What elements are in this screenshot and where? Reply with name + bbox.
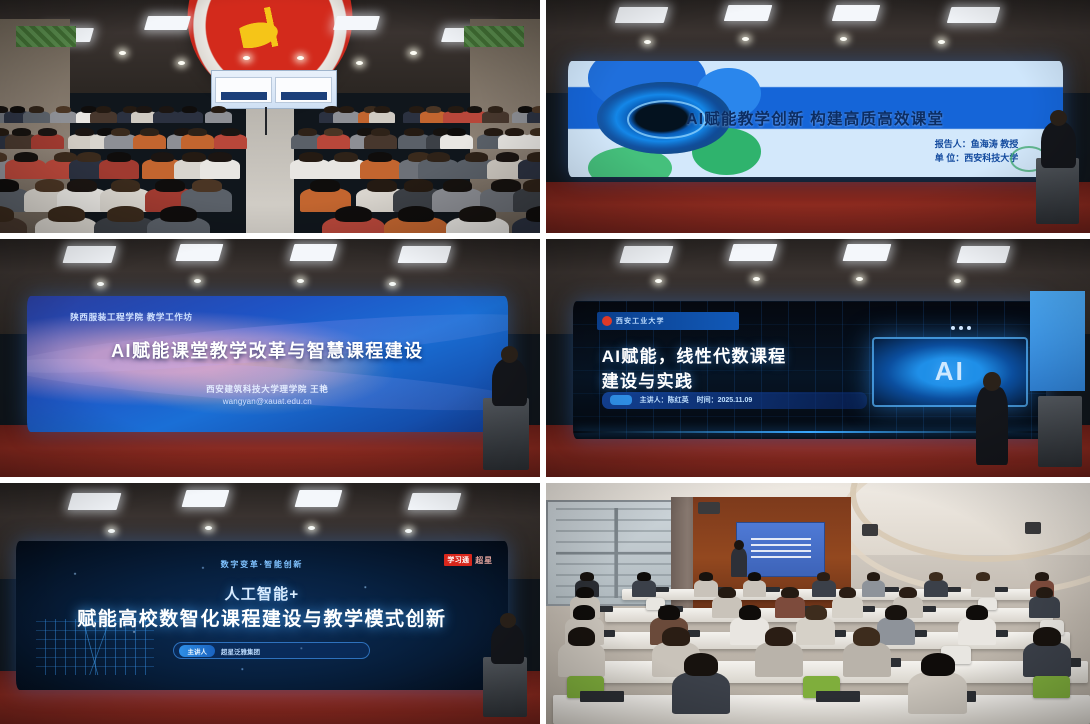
ceiling-light xyxy=(144,16,191,30)
audience-person xyxy=(23,111,50,124)
audience-head xyxy=(111,128,130,136)
audience-head xyxy=(221,128,240,136)
ceiling-speaker xyxy=(862,524,878,536)
attendee-person xyxy=(672,672,731,714)
audience-head xyxy=(107,206,144,222)
audience-head xyxy=(527,152,540,162)
chair xyxy=(1033,676,1070,699)
podium xyxy=(1038,396,1082,467)
ceiling-speaker xyxy=(1025,522,1041,534)
audience-head xyxy=(447,128,466,136)
audience-head xyxy=(505,128,524,136)
audience-person xyxy=(99,159,140,178)
attendee-head xyxy=(580,572,594,581)
audience-head xyxy=(77,152,101,162)
audience-person xyxy=(364,134,397,150)
audience-head xyxy=(491,179,520,192)
audience-head xyxy=(56,106,71,113)
attendee-person xyxy=(743,580,767,597)
audience-head xyxy=(404,179,433,192)
hall-room: 西安工业大学 AI赋能，线性代数课程 建设与实践 主讲人：陈红英 时间：2025… xyxy=(546,239,1090,477)
projection-screen xyxy=(736,522,825,577)
slide-title: AI赋能教学创新 构建高质高效课堂 xyxy=(568,107,1063,129)
hall-room: 数字变革·智能创新 人工智能+ 赋能高校数智化课程建设与教学模式创新 主讲人 超… xyxy=(0,483,540,724)
audience-head xyxy=(443,179,472,192)
audience-head xyxy=(374,106,389,113)
attendee-person xyxy=(908,672,967,714)
attendee-person xyxy=(558,642,606,676)
stage-floor xyxy=(546,182,1090,233)
audience-head xyxy=(467,106,482,113)
corner-logo-text: 超星 xyxy=(475,555,493,566)
affiliation-line: 单 位：西安科技大学 xyxy=(935,152,1019,166)
speaker-head xyxy=(500,613,516,627)
audience-head xyxy=(111,179,140,192)
audience-person xyxy=(360,159,401,178)
audience-person xyxy=(317,134,350,150)
laptop xyxy=(580,691,624,702)
attendee-head xyxy=(929,572,943,581)
attendee-head xyxy=(658,605,680,620)
audience-head xyxy=(335,206,372,222)
audience-head xyxy=(496,152,520,162)
audience-head xyxy=(29,106,44,113)
attendee-head xyxy=(576,587,594,599)
attendee-head xyxy=(573,605,595,620)
slide-email: wangyan@xauat.edu.cn xyxy=(27,397,508,406)
audience-head xyxy=(192,179,221,192)
audience-person xyxy=(527,111,540,124)
audience-person xyxy=(418,159,459,178)
audience-head xyxy=(14,152,38,162)
attendee-head xyxy=(1036,587,1054,599)
audience-person xyxy=(523,134,540,150)
attendee-head xyxy=(805,605,827,620)
slide-info-bar: 主讲人 超星泛雅集团 xyxy=(173,642,370,658)
slide-presenter-block: 报告人：鱼海涛 教授 单 位：西安科技大学 xyxy=(935,138,1019,166)
podium xyxy=(1036,158,1080,223)
audience-head xyxy=(310,179,339,192)
audience-person xyxy=(333,111,360,124)
podium xyxy=(483,398,529,469)
attendee-person xyxy=(1023,642,1071,676)
audience-head xyxy=(427,152,451,162)
info-pill-icon xyxy=(610,395,632,405)
panel-slide-ai-plus-curriculum[interactable]: 数字变革·智能创新 人工智能+ 赋能高校数智化课程建设与教学模式创新 主讲人 超… xyxy=(0,483,540,724)
attendee-person xyxy=(843,642,891,676)
audience-person xyxy=(518,159,540,178)
green-wall-panel xyxy=(16,26,75,47)
audience-head xyxy=(334,152,358,162)
audience-head xyxy=(371,128,390,136)
audience-head xyxy=(96,106,111,113)
audience-person xyxy=(90,111,117,124)
laptop xyxy=(816,691,860,702)
stage-floor xyxy=(0,425,540,477)
audience-head xyxy=(530,128,540,136)
audience-head xyxy=(155,179,184,192)
audience-head xyxy=(532,106,540,113)
panel-slide-linear-algebra[interactable]: 西安工业大学 AI赋能，线性代数课程 建设与实践 主讲人：陈红英 时间：2025… xyxy=(546,239,1090,477)
university-logo: 西安工业大学 xyxy=(597,312,739,330)
panel-auditorium-overview[interactable] xyxy=(0,0,540,233)
presenter-figure xyxy=(731,548,747,577)
attendee-head xyxy=(976,572,990,581)
speaker-head xyxy=(983,372,1000,391)
speaker-figure xyxy=(491,623,523,664)
audience-head xyxy=(35,179,64,192)
audience-crowd xyxy=(0,98,540,233)
ai-badge-text: AI xyxy=(935,356,965,387)
speaker-figure xyxy=(1041,121,1076,168)
attendee-head xyxy=(853,627,881,646)
led-slide-screen: 陕西服装工程学院 教学工作坊 AI赋能课堂教学改革与智慧课程建设 西安建筑科技大… xyxy=(27,296,508,432)
info-text: 超星泛雅集团 xyxy=(221,646,260,656)
audience-head xyxy=(459,206,496,222)
audience-head xyxy=(465,152,489,162)
attendee-head xyxy=(718,587,736,599)
hall-room: 陕西服装工程学院 教学工作坊 AI赋能课堂教学改革与智慧课程建设 西安建筑科技大… xyxy=(0,239,540,477)
attendee-head xyxy=(662,627,690,646)
audience-head xyxy=(426,106,441,113)
speaker-figure xyxy=(492,358,527,406)
audience-head xyxy=(488,106,503,113)
logo-mark-icon xyxy=(602,316,612,326)
attendee-head xyxy=(885,605,907,620)
attendee-head xyxy=(839,587,857,599)
decor-dots-icon xyxy=(951,326,971,330)
info-pill: 主讲人 xyxy=(179,645,215,657)
audience-head xyxy=(339,106,354,113)
audience-head xyxy=(38,128,57,136)
attendee-head xyxy=(966,605,988,620)
audience-head xyxy=(188,128,207,136)
attendee-person xyxy=(924,580,948,597)
audience-head xyxy=(448,106,463,113)
green-wall-panel xyxy=(464,26,523,47)
attendee-head xyxy=(921,653,955,676)
audience-person xyxy=(50,111,77,124)
audience-head xyxy=(48,206,85,222)
attendee-person xyxy=(862,580,886,597)
audience-person xyxy=(181,134,214,150)
audience-head xyxy=(367,179,396,192)
audience-head xyxy=(182,106,197,113)
logo-text: 西安工业大学 xyxy=(616,316,665,326)
audience-head xyxy=(151,152,175,162)
slide-info-bar: 主讲人：陈红英 时间：2025.11.09 xyxy=(602,392,867,409)
side-display-panel xyxy=(1030,291,1084,391)
presenter-line: 报告人：鱼海涛 教授 xyxy=(935,138,1019,152)
attendee-head xyxy=(1035,572,1049,581)
speaker-head xyxy=(1050,110,1067,126)
panel-slide-ai-teaching-innovation[interactable]: AI赋能教学创新 构建高质高效课堂 报告人：鱼海涛 教授 单 位：西安科技大学 xyxy=(546,0,1090,233)
attendee-person xyxy=(775,596,805,618)
slide-title: AI赋能课堂教学改革与智慧课程建设 xyxy=(27,337,508,363)
audience-head xyxy=(0,179,19,192)
attendee-person xyxy=(796,617,834,645)
ceiling-speaker xyxy=(698,502,720,514)
audience-head xyxy=(324,128,343,136)
audience-head xyxy=(208,152,232,162)
attendee-person xyxy=(730,617,768,645)
attendee-person xyxy=(812,580,836,597)
attendee-head xyxy=(568,627,596,646)
attendee-person xyxy=(958,617,996,645)
audience-head xyxy=(136,106,151,113)
panel-seminar-room[interactable] xyxy=(546,483,1090,724)
audience-person xyxy=(440,134,473,150)
audience-person xyxy=(5,159,46,178)
podium xyxy=(483,657,526,717)
audience-person xyxy=(31,134,64,150)
audience-person xyxy=(200,159,241,178)
audience-person xyxy=(214,134,247,150)
attendee-person xyxy=(1029,596,1059,618)
hall-room: AI赋能教学创新 构建高质高效课堂 报告人：鱼海涛 教授 单 位：西安科技大学 xyxy=(546,0,1090,233)
auditorium-room xyxy=(0,0,540,233)
presenter-head xyxy=(734,540,744,550)
led-slide-screen: 数字变革·智能创新 人工智能+ 赋能高校数智化课程建设与教学模式创新 主讲人 超… xyxy=(16,541,507,690)
audience-head xyxy=(67,179,96,192)
attendee-head xyxy=(748,572,762,581)
attendee-person xyxy=(632,580,656,597)
audience-head xyxy=(398,206,435,222)
attendee-head xyxy=(1033,627,1061,646)
attendee-head xyxy=(684,653,718,676)
attendee-head xyxy=(637,572,651,581)
attendee-head xyxy=(781,587,799,599)
attendee-head xyxy=(867,572,881,581)
speaker-figure xyxy=(976,387,1009,466)
audience-head xyxy=(160,206,197,222)
attendee-person xyxy=(712,596,742,618)
ceiling-light xyxy=(333,16,380,30)
audience-person xyxy=(176,111,203,124)
audience-person xyxy=(482,111,509,124)
led-slide-screen: AI赋能教学创新 构建高质高效课堂 报告人：鱼海涛 教授 单 位：西安科技大学 xyxy=(568,61,1063,178)
audience-head xyxy=(107,152,131,162)
audience-head xyxy=(12,128,31,136)
audience-head xyxy=(299,152,323,162)
corner-logo-mark: 学习通 xyxy=(444,554,472,566)
audience-head xyxy=(140,128,159,136)
corner-logo: 学习通 超星 xyxy=(444,554,492,566)
attendee-head xyxy=(817,572,831,581)
slide-title-line1: 人工智能+ xyxy=(16,583,507,604)
slide-eyebrow: 陕西服装工程学院 教学工作坊 xyxy=(27,311,508,323)
audience-person xyxy=(369,111,396,124)
attendee-head xyxy=(899,587,917,599)
audience-person xyxy=(133,134,166,150)
slide-eyebrow: 数字变革·智能创新 xyxy=(16,559,507,570)
audience-head xyxy=(368,152,392,162)
audience-head xyxy=(404,128,423,136)
audience-head xyxy=(298,128,317,136)
photo-collage-grid: AI赋能教学创新 构建高质高效课堂 报告人：鱼海涛 教授 单 位：西安科技大学 xyxy=(0,0,1090,718)
slide-title-line2: 赋能高校数智化课程建设与教学模式创新 xyxy=(16,604,507,631)
audience-head xyxy=(75,128,94,136)
speaker-head xyxy=(501,346,518,363)
attendee-head xyxy=(739,605,761,620)
audience-head xyxy=(523,179,540,192)
attendee-head xyxy=(765,627,793,646)
attendee-person xyxy=(755,642,803,676)
slide-presenter-line: 西安建筑科技大学理学院 王艳 xyxy=(27,383,508,395)
time-label: 时间：2025.11.09 xyxy=(697,395,753,405)
audience-person xyxy=(205,111,232,124)
speaker-label: 主讲人：陈红英 xyxy=(640,395,689,405)
attendee-person xyxy=(877,617,915,645)
audience-head xyxy=(211,106,226,113)
audience-head xyxy=(159,106,174,113)
attendee-person xyxy=(832,596,862,618)
attendee-person xyxy=(694,580,718,597)
attendee-head xyxy=(699,572,713,581)
panel-slide-classroom-reform[interactable]: 陕西服装工程学院 教学工作坊 AI赋能课堂教学改革与智慧课程建设 西安建筑科技大… xyxy=(0,239,540,477)
attendee-person xyxy=(971,580,995,597)
audience-head xyxy=(10,106,25,113)
